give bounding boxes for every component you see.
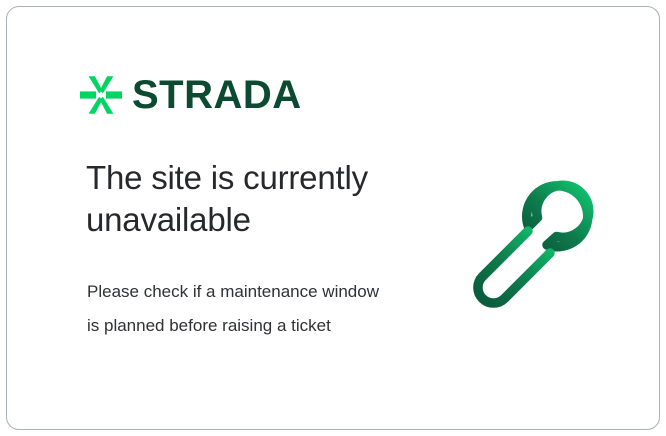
- strada-starburst-icon: [79, 73, 123, 117]
- brand-logo: STRADA: [79, 73, 302, 117]
- page-description: Please check if a maintenance window is …: [87, 275, 387, 343]
- wrench-icon: [462, 159, 622, 319]
- page-title: The site is currently unavailable: [86, 157, 426, 241]
- status-card: STRADA The site is currently unavailable…: [6, 6, 660, 430]
- maintenance-page: STRADA The site is currently unavailable…: [0, 0, 666, 436]
- brand-wordmark: STRADA: [132, 75, 302, 115]
